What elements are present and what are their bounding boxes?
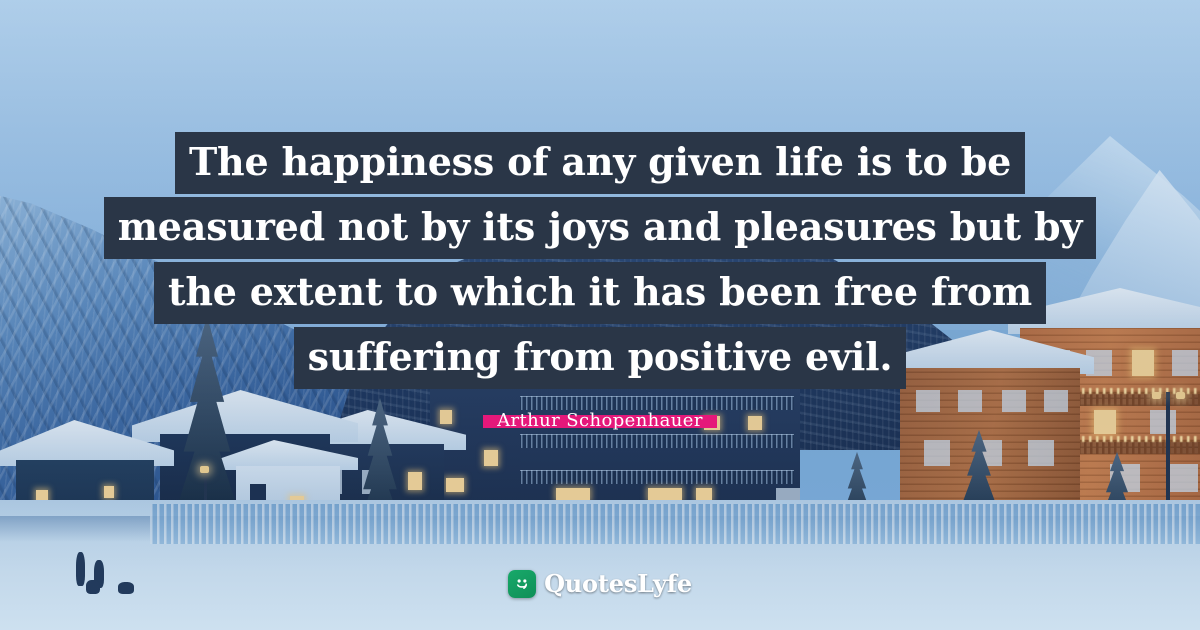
quote-line-row: the extent to which it has been free fro…: [0, 262, 1200, 324]
quote-card: The happiness of any given life is to be…: [0, 0, 1200, 630]
quote-line-4: suffering from positive evil.: [294, 327, 907, 389]
lamp-light: [200, 466, 209, 473]
balcony-railing: [506, 470, 794, 484]
ice-rink-wall: [150, 504, 1200, 544]
quote-line-row: measured not by its joys and pleasures b…: [0, 197, 1200, 259]
brand-name: QuotesLyfe: [544, 569, 692, 598]
window: [924, 440, 950, 466]
window: [1028, 440, 1054, 466]
quote-line-3: the extent to which it has been free fro…: [154, 262, 1046, 324]
lamp-light: [1176, 392, 1185, 399]
window: [958, 390, 982, 412]
window-lit: [408, 472, 422, 490]
window: [916, 390, 940, 412]
window-lit: [556, 488, 590, 500]
quote-smiley-icon: [508, 570, 536, 598]
window: [1002, 390, 1026, 412]
quote-line-1: The happiness of any given life is to be: [175, 132, 1025, 194]
quote-line-row: suffering from positive evil.: [0, 327, 1200, 389]
lamp-light: [1152, 392, 1161, 399]
balcony-railing: [506, 396, 794, 410]
author-badge: Arthur Schopenhauer: [483, 415, 717, 428]
author-row: Arthur Schopenhauer: [0, 415, 1200, 428]
window-lit: [484, 450, 498, 466]
quote-text-block: The happiness of any given life is to be…: [0, 132, 1200, 392]
window: [1168, 464, 1198, 492]
window-lit: [696, 488, 712, 500]
window-lit: [104, 486, 114, 498]
quote-line-2: measured not by its joys and pleasures b…: [104, 197, 1096, 259]
balcony-railing: [506, 434, 794, 448]
brand-logo[interactable]: QuotesLyfe: [0, 569, 1200, 598]
window: [1044, 390, 1068, 412]
window-lit: [648, 488, 682, 500]
quote-line-row: The happiness of any given life is to be: [0, 132, 1200, 194]
